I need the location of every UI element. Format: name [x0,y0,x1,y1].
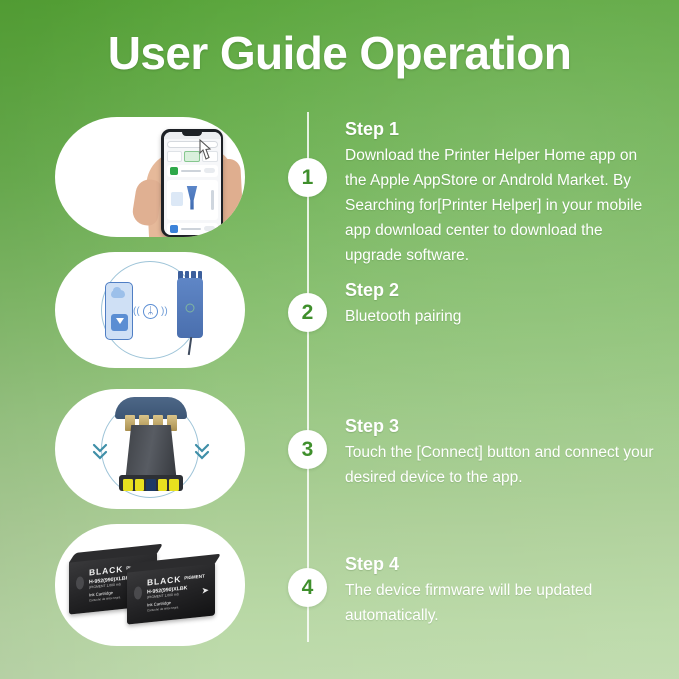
cloud-icon [111,290,125,298]
app-get-button [204,168,215,173]
cartridge-port [76,576,84,590]
tap-cursor-icon [194,139,214,165]
app-name-placeholder [181,228,201,230]
step-1-text: Step 1 Download the Printer Helper Home … [345,117,660,268]
poster-canvas: User Guide Operation [0,0,679,679]
bluetooth-pairing-illustration: (( ᛦ )) [55,252,245,368]
step-4-body: The device firmware will be updated auto… [345,578,660,628]
app-tab [167,151,183,162]
step-number-badge-4: 4 [288,568,327,607]
hand-phone-illustration [55,117,245,237]
phone-notch [182,132,202,136]
app-name-placeholder [181,170,201,172]
gold-contact [123,479,133,491]
gold-contact [158,479,168,491]
step-2-image-card: (( ᛦ )) [55,252,245,368]
chevron-down-icon-right [194,441,210,463]
step-1-title: Step 1 [345,117,660,141]
gold-contact-strip [123,479,179,491]
step-4-title: Step 4 [345,552,660,576]
step-row-4: BLACKPIGMENT H-952(990)XLBK (PIGMENT 1,0… [0,524,679,654]
app-icon [170,225,178,233]
step-number-badge-3: 3 [288,430,327,469]
step-2-text: Step 2 Bluetooth pairing [345,278,660,329]
phone-status-bar [164,132,221,139]
app-get-button [204,226,215,231]
chevron-down-icon-left [92,441,108,463]
step-3-image-card [55,389,245,509]
chip-window [146,479,156,491]
step-4-image-card: BLACKPIGMENT H-952(990)XLBK (PIGMENT 1,0… [55,524,245,646]
phone-device [105,282,133,340]
app-screenshot-row [167,180,218,220]
chip-insert-illustration [55,389,245,509]
step-row-3: 3 Step 3 Touch the [Connect] button and … [0,389,679,511]
step-row-2: (( ᛦ )) 2 Step 2 Bluetooth pairing [0,252,679,372]
step-1-image-card [55,117,245,237]
app-hero-graphic [185,186,199,210]
dongle-indicator [186,304,195,313]
step-number-badge-1: 1 [288,158,327,197]
app-list-item [167,165,218,177]
step-2-body: Bluetooth pairing [345,304,660,329]
step-row-1: 1 Step 1 Download the Printer Helper Hom… [0,117,679,245]
app-scroll-indicator [211,190,214,210]
step-3-body: Touch the [Connect] button and connect y… [345,440,660,490]
signal-wave-right-icon: )) [161,304,168,319]
bluetooth-icon: ᛦ [143,304,158,319]
usb-dongle-device [177,278,203,338]
ink-cartridges-illustration: BLACKPIGMENT H-952(990)XLBK (PIGMENT 1,0… [55,524,245,646]
cartridge-port [134,586,142,600]
app-icon [170,167,178,175]
step-number-badge-2: 2 [288,293,327,332]
signal-wave-left-icon: (( [133,304,140,319]
cartridge-top-face [69,544,163,563]
step-3-title: Step 3 [345,414,660,438]
step-3-text: Step 3 Touch the [Connect] button and co… [345,414,660,490]
gold-contact [169,479,179,491]
page-title: User Guide Operation [0,24,679,82]
gold-contact [135,479,145,491]
download-icon [111,314,128,331]
step-2-title: Step 2 [345,278,660,302]
app-thumb [171,192,183,206]
arrow-right-icon: ➤ [193,587,209,595]
ink-cartridge-front: BLACKPIGMENT H-952(990)XLBK (PIGMENT 1,0… [127,561,215,624]
cartridge-brand-suffix: PIGMENT [184,573,205,580]
step-4-text: Step 4 The device firmware will be updat… [345,552,660,628]
step-1-body: Download the Printer Helper Home app on … [345,143,660,268]
app-list-item [167,223,218,235]
